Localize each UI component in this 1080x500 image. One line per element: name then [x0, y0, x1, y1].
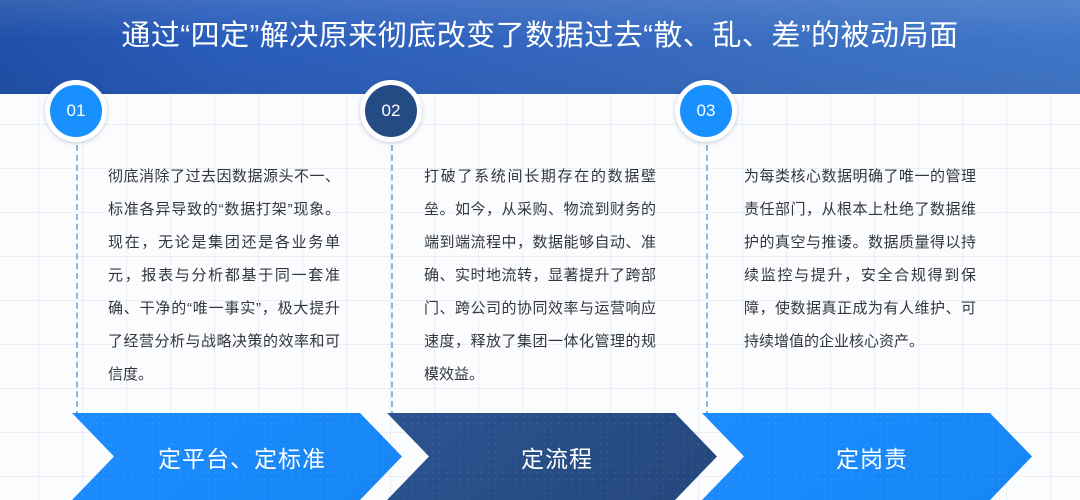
step-body-text-03: 为每类核心数据明确了唯一的管理责任部门，从根本上杜绝了数据维护的真空与推诿。数据… [744, 160, 976, 358]
step-body-text-01: 彻底消除了过去因数据源头不一、标准各异导致的“数据打架”现象。现在，无论是集团还… [108, 160, 340, 391]
connector-line-step-3 [706, 145, 708, 417]
step-banner-label-03: 定岗责 [826, 440, 908, 474]
page-title: 通过“四定”解决原来彻底改变了数据过去“散、乱、差”的被动局面 [0, 16, 1080, 56]
slide-canvas: 通过“四定”解决原来彻底改变了数据过去“散、乱、差”的被动局面 01 02 03… [0, 0, 1080, 500]
step-banner-label-02: 定流程 [511, 440, 593, 474]
step-badge-01[interactable]: 01 [45, 80, 107, 142]
step-badge-03[interactable]: 03 [675, 80, 737, 142]
header-bar: 通过“四定”解决原来彻底改变了数据过去“散、乱、差”的被动局面 [0, 0, 1080, 94]
step-banner-03[interactable]: 定岗责 [702, 413, 1032, 500]
step-badge-02[interactable]: 02 [360, 80, 422, 142]
step-banner-label-01: 定平台、定标准 [148, 440, 326, 474]
connector-line-step-1 [76, 145, 78, 417]
step-banner-02[interactable]: 定流程 [387, 413, 717, 500]
step-banner-01[interactable]: 定平台、定标准 [72, 413, 402, 500]
connector-line-step-2 [391, 145, 393, 417]
step-body-text-02: 打破了系统间长期存在的数据壁垒。如今，从采购、物流到财务的端到端流程中，数据能够… [424, 160, 656, 391]
